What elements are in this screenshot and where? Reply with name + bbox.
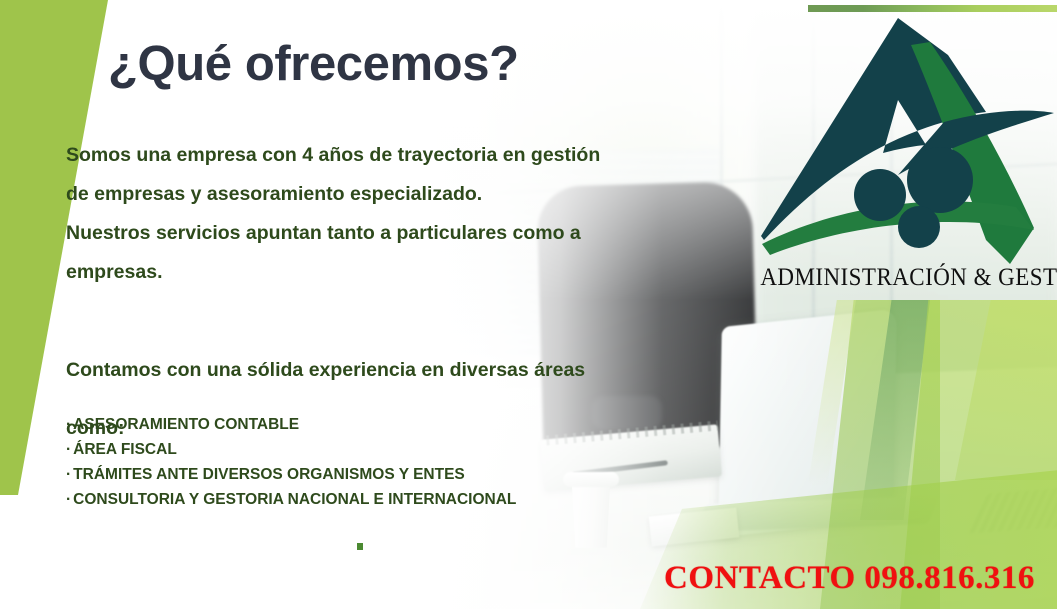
intro-line-4: empresas. [66, 253, 676, 292]
logo-triangle-a-icon [748, 12, 1056, 267]
logo-dot-medium [854, 169, 906, 221]
stray-bullet-dot [357, 543, 363, 550]
logo-dot-small [898, 206, 940, 248]
page-title: ¿Qué ofrecemos? [108, 36, 519, 92]
list-item: CONSULTORIA Y GESTORIA NACIONAL E INTERN… [66, 487, 666, 512]
intro-paragraph-block: Somos una empresa con 4 años de trayecto… [66, 136, 676, 292]
list-item: ASESORAMIENTO CONTABLE [66, 412, 666, 437]
intro-line-2: de empresas y asesoramiento especializad… [66, 175, 676, 214]
contact-phone-text: CONTACTO 098.816.316 [664, 560, 1035, 597]
company-logo: ADMINISTRACIÓN & GESTORÍA [748, 12, 1056, 310]
list-item: TRÁMITES ANTE DIVERSOS ORGANISMOS Y ENTE… [66, 462, 666, 487]
intro-line-1: Somos una empresa con 4 años de trayecto… [66, 136, 676, 175]
services-lead-in-line-1: Contamos con una sólida experiencia en d… [66, 351, 666, 390]
services-bullet-list: ASESORAMIENTO CONTABLE ÁREA FISCAL TRÁMI… [66, 412, 666, 512]
presentation-slide: ADMINISTRACIÓN & GESTORÍA ¿Qué ofrecemos… [0, 0, 1057, 609]
intro-line-3: Nuestros servicios apuntan tanto a parti… [66, 214, 676, 253]
top-right-gradient-rule [808, 5, 1057, 12]
logo-wordmark: ADMINISTRACIÓN & GESTORÍA [760, 264, 1043, 292]
list-item: ÁREA FISCAL [66, 437, 666, 462]
logo-dot-large [907, 147, 973, 213]
